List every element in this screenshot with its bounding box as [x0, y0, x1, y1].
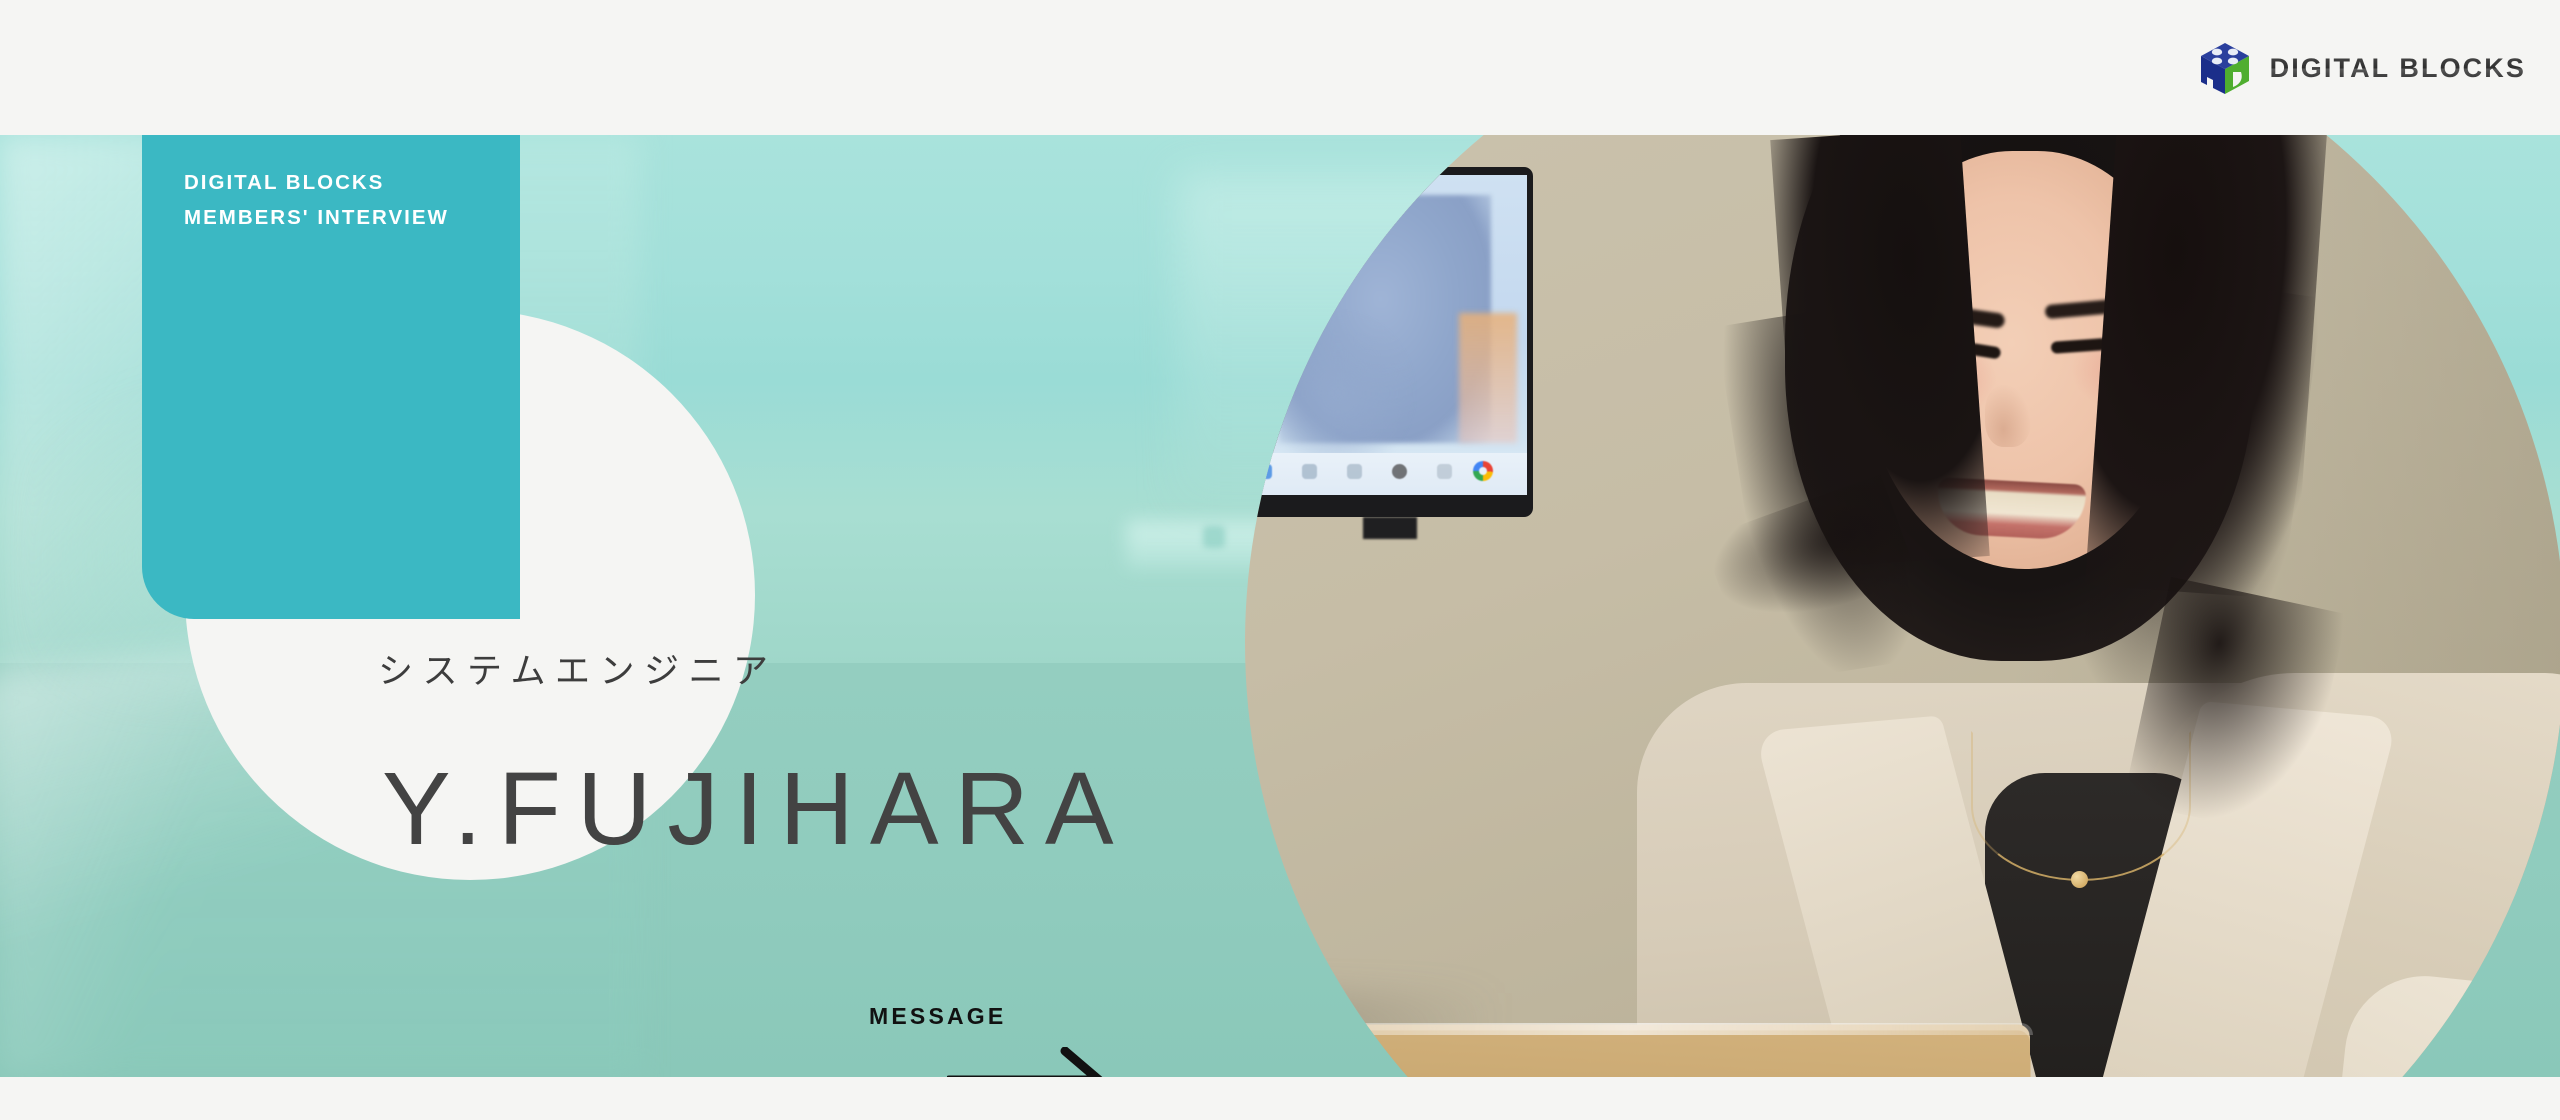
interview-hero-page: DIGITAL BLOCKS	[0, 0, 2560, 1120]
arrow-right-icon	[947, 1047, 1107, 1077]
message-link[interactable]: MESSAGE	[869, 1003, 1119, 1077]
site-header: DIGITAL BLOCKS	[0, 0, 2560, 135]
badge-line-2: MEMBERS' INTERVIEW	[184, 200, 449, 235]
brand-logo[interactable]: DIGITAL BLOCKS	[2197, 42, 2526, 94]
interview-badge-text: DIGITAL BLOCKS MEMBERS' INTERVIEW	[184, 165, 449, 236]
digital-blocks-cube-icon	[2197, 42, 2253, 94]
badge-line-1: DIGITAL BLOCKS	[184, 165, 449, 200]
page-bottom-strip	[0, 1077, 2560, 1120]
interview-portrait-photo	[1245, 135, 2560, 1077]
person-name: Y.FUJIHARA	[382, 757, 1130, 860]
brand-wordmark: DIGITAL BLOCKS	[2270, 55, 2526, 82]
message-label: MESSAGE	[869, 1003, 1006, 1030]
role-title: システムエンジニア	[378, 643, 777, 694]
hero-section: DIGITAL BLOCKS MEMBERS' INTERVIEW システムエン…	[0, 135, 2560, 1077]
interview-badge: DIGITAL BLOCKS MEMBERS' INTERVIEW	[142, 135, 520, 619]
